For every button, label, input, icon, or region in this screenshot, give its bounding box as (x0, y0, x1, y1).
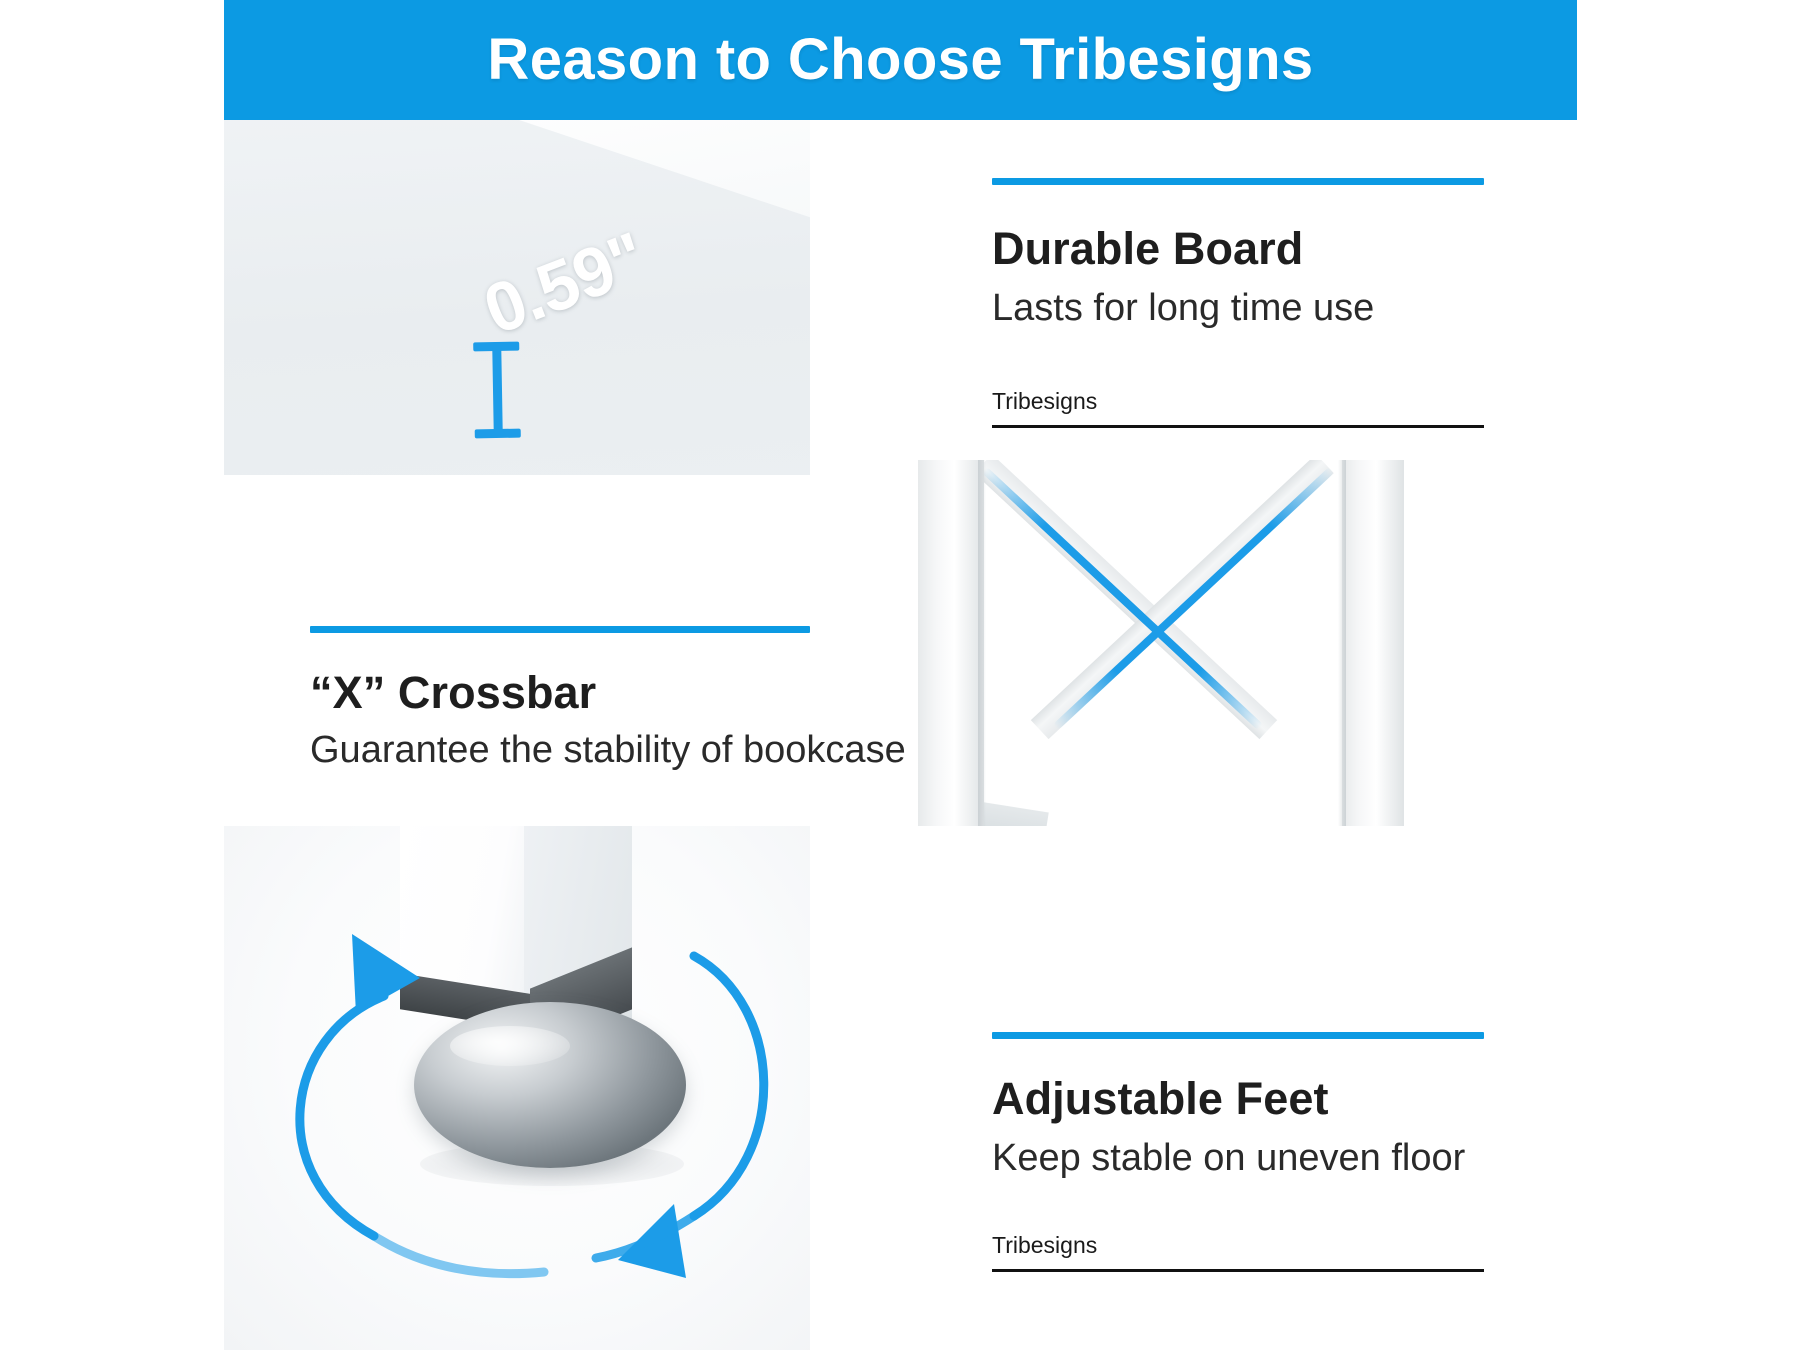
infographic-page: Reason to Choose Tribesigns 0.59" Durabl… (0, 0, 1800, 1350)
crossbar-highlight-right (1053, 467, 1335, 731)
crossbar-highlight-left (981, 467, 1263, 731)
feature-title: “X” Crossbar (310, 669, 810, 716)
accent-rule (992, 1032, 1484, 1039)
crossbar-brace-right (1031, 460, 1334, 739)
brand-underline (992, 425, 1484, 428)
accent-rule (310, 626, 810, 633)
feature-subtitle: Lasts for long time use (992, 288, 1484, 330)
accent-rule (992, 178, 1484, 185)
photo-x-crossbar (918, 460, 1404, 826)
brand-underline (992, 1269, 1484, 1272)
feature-title: Durable Board (992, 225, 1484, 272)
feature-block-durable-board: Durable Board Lasts for long time use Tr… (992, 178, 1484, 428)
feature-block-adjustable-feet: Adjustable Feet Keep stable on uneven fl… (992, 1032, 1484, 1272)
page-title: Reason to Choose Tribesigns (487, 31, 1313, 89)
brand-label: Tribesigns (992, 1234, 1484, 1257)
feature-subtitle: Guarantee the stability of bookcase (310, 730, 810, 772)
photo-durable-board: 0.59" (224, 120, 810, 475)
dimension-marker-icon (473, 342, 521, 439)
photo-adjustable-feet (224, 826, 810, 1350)
post-shadow-left (978, 460, 986, 826)
feature-title: Adjustable Feet (992, 1075, 1484, 1122)
rotation-arrows-icon (224, 886, 810, 1350)
post-shadow-right (1338, 460, 1346, 826)
header-banner: Reason to Choose Tribesigns (224, 0, 1577, 120)
feature-subtitle: Keep stable on uneven floor (992, 1138, 1484, 1180)
brand-label: Tribesigns (992, 390, 1484, 413)
frame-post-right (1342, 460, 1404, 826)
frame-post-left (918, 460, 984, 826)
